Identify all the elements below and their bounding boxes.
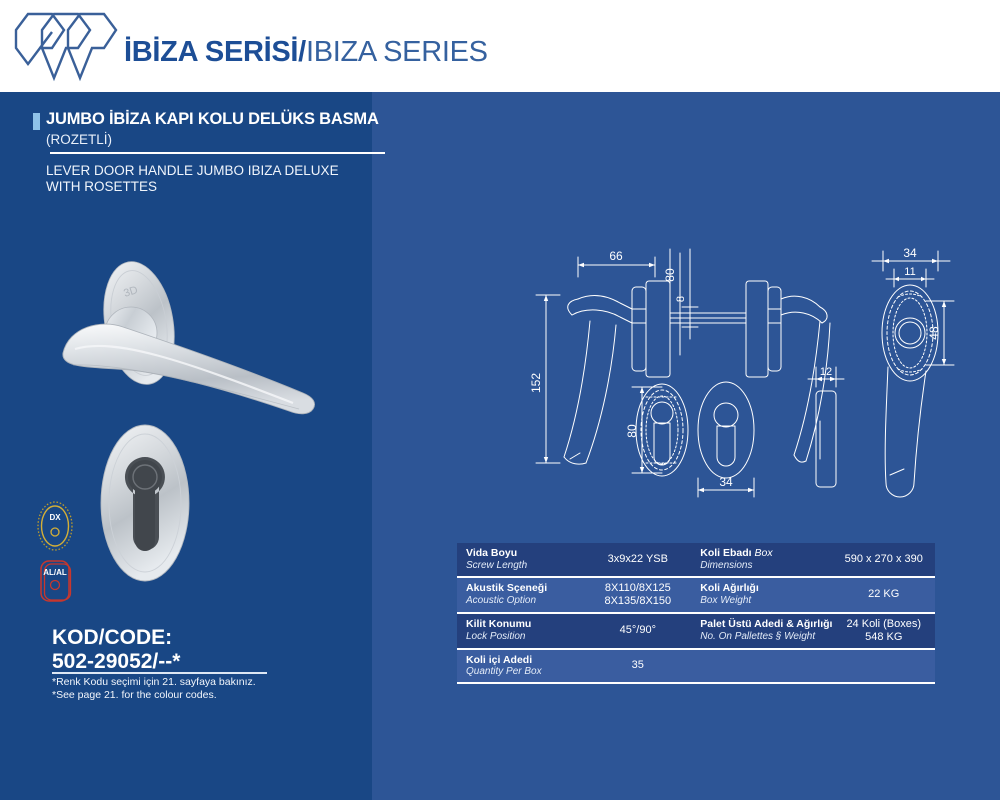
dimension-66: 66 [578,249,655,277]
spec-value: 35 [584,659,691,672]
rosette-plan-detailed [636,384,688,476]
table-row: Kilit Konumu Lock Position 45°/90° Palet… [457,613,935,649]
spec-label-cell: Palet Üstü Adedi & Ağırlığı No. On Palle… [691,613,832,649]
header-title: İBİZA SERİSİ/IBIZA SERIES [124,36,488,69]
spec-label-tr: Palet Üstü Adedi & Ağırlığı [700,618,832,631]
spec-label-en: No. On Pallettes § Weight [700,631,832,643]
spec-value-cell: 35 [584,649,691,684]
spec-label-tr: Akustik Sçeneği [466,582,584,595]
svg-text:12: 12 [820,366,832,378]
dimension-48: 48 [926,301,954,365]
svg-text:34: 34 [903,246,917,260]
code-value: 502-29052/--* [52,650,180,674]
spec-label-cell: Koli içi Adedi Quantity Per Box [457,649,584,684]
spindle [670,313,746,323]
title-accent-bar [33,113,40,130]
svg-text:80: 80 [625,424,639,438]
code-note-tr: *Renk Kodu seçimi için 21. sayfaya bakın… [52,676,342,689]
al-al-badge-label: AL/AL [43,568,67,577]
rosette-left-elevation [632,281,670,377]
code-notes: *Renk Kodu seçimi için 21. sayfaya bakın… [52,676,342,702]
spec-value-cell: 24 Koli (Boxes) 548 KG [832,613,935,649]
spec-label-cell: Kilit Konumu Lock Position [457,613,584,649]
code-label: KOD/CODE: [52,626,172,650]
spec-label-tr: Kilit Konumu [466,618,584,631]
dimension-8: 8 [675,295,698,339]
dx-badge: DX [35,500,75,552]
keyhole-escutcheon [101,425,189,581]
svg-text:152: 152 [529,373,543,393]
svg-text:48: 48 [927,326,941,340]
spec-value-cell: 45°/90° [584,613,691,649]
spec-label-en: Lock Position [466,631,584,643]
svg-text:66: 66 [609,249,623,263]
handle-lever-arm [63,324,315,414]
title-divider [50,152,385,154]
spec-label-tr: Koli Ebadı Box [700,547,832,560]
rosette-right-elevation [746,281,781,377]
spec-label-cell: Koli Ağırlığı Box Weight [691,577,832,613]
spec-label-cell: Koli Ebadı Box Dimensions [691,543,832,577]
dimension-80-rosette: 80 [625,387,662,473]
spec-label-en: Screw Length [466,560,584,572]
spec-label-tr: Vida Boyu [466,547,584,560]
product-title-en: LEVER DOOR HANDLE JUMBO IBIZA DELUXE WIT… [46,163,376,195]
dimension-11: 11 [886,266,934,287]
handle-front-elevation [564,296,632,465]
spec-value-cell: 8X110/8X125 8X135/8X150 [584,577,691,613]
spec-label-en: Dimensions [700,560,832,572]
spec-value-cell: 590 x 270 x 390 [832,543,935,577]
spec-value: 45°/90° [584,624,691,637]
spec-label-cell-empty [691,649,832,684]
product-photo: 3D [55,245,345,600]
brand-logo-icon [12,8,132,84]
handle-top-view [882,285,938,497]
code-note-en: *See page 21. for the colour codes. [52,689,342,702]
dimension-34: 34 [698,475,754,497]
spec-value-cell: 3x9x22 YSB [584,543,691,577]
specification-table: Vida Boyu Screw Length 3x9x22 YSB Koli E… [457,543,935,684]
rosette-side-profile: 12 [808,366,844,487]
spec-value-cell-empty [832,649,935,684]
product-title-tr: JUMBO İBİZA KAPI KOLU DELÜKS BASMA [46,110,379,129]
spec-value: 590 x 270 x 390 [832,553,935,566]
spec-label-en: Quantity Per Box [466,666,584,678]
technical-drawings: 66 80 8 152 [520,235,1000,520]
table-row: Koli içi Adedi Quantity Per Box 35 [457,649,935,684]
svg-text:11: 11 [904,266,915,278]
dimension-152: 152 [529,295,560,463]
dx-badge-label: DX [49,513,61,522]
spec-label-cell: Vida Boyu Screw Length [457,543,584,577]
spec-value: 24 Koli (Boxes) [832,618,935,631]
spec-value-line2: 548 KG [832,631,935,644]
spec-label-tr: Koli Ağırlığı [700,582,832,595]
spec-value-cell: 22 KG [832,577,935,613]
svg-text:80: 80 [663,268,677,282]
svg-text:34: 34 [719,475,733,489]
table-row: Akustik Sçeneği Acoustic Option 8X110/8X… [457,577,935,613]
header-title-en: IBIZA SERIES [306,36,488,68]
catalog-page: İBİZA SERİSİ/IBIZA SERIES JUMBO İBİZA KA… [0,0,1000,800]
spec-value-line2: 8X135/8X150 [584,595,691,608]
spec-value: 3x9x22 YSB [584,553,691,566]
rosette-plan-plain [698,382,754,478]
table-row: Vida Boyu Screw Length 3x9x22 YSB Koli E… [457,543,935,577]
dimension-80-top: 80 [663,249,690,360]
spec-label-en: Box Weight [700,595,832,607]
spec-table-body: Vida Boyu Screw Length 3x9x22 YSB Koli E… [457,543,935,683]
al-al-badge: AL/AL [38,558,74,604]
header-title-tr: İBİZA SERİSİ/ [124,36,306,68]
spec-label-tr: Koli içi Adedi [466,654,584,667]
code-divider [52,672,267,674]
spec-label-cell: Akustik Sçeneği Acoustic Option [457,577,584,613]
page-header: İBİZA SERİSİ/IBIZA SERIES [0,0,1000,92]
svg-text:8: 8 [675,296,687,302]
spec-value: 22 KG [832,588,935,601]
product-subtitle-tr: (ROZETLİ) [46,132,112,147]
spec-value: 8X110/8X125 [584,582,691,595]
spec-label-en: Acoustic Option [466,595,584,607]
